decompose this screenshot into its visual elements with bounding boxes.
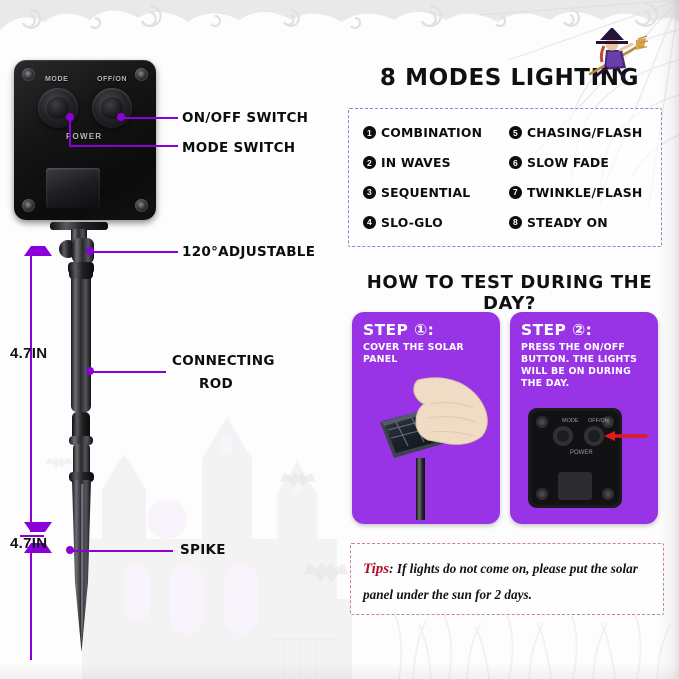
screw-icon [135,199,148,212]
leader-line-mode [69,145,178,147]
onoff-button[interactable] [92,88,132,128]
solar-control-box: MODE OFF/ON POWER [14,60,156,220]
tips-separator: : [389,561,397,576]
tips-body: If lights do not come on, please put the… [363,561,638,602]
infographic-page: MODE OFF/ON POWER [0,0,679,679]
callout-connecting-rod-line2: ROD [199,376,233,392]
mode-button-label: MODE [45,76,68,83]
step-2-card: STEP ②: PRESS THE ON/OFF BUTTON. THE LIG… [510,312,658,524]
leader-line-spike [70,550,173,552]
modes-list-box: 1 COMBINATION 5 CHASING/FLASH 2 IN WAVES… [348,108,662,247]
mode-item: 6 SLOW FADE [509,148,655,178]
leader-line-mode-vertical [69,117,71,146]
mode-label: TWINKLE/FLASH [527,185,642,200]
step-2-body: PRESS THE ON/OFF BUTTON. THE LIGHTS WILL… [521,342,649,390]
mode-item: 1 COMBINATION [363,118,509,148]
mode-number: 5 [509,126,522,139]
leader-line-onoff [121,117,178,119]
mode-item: 4 SLO-GLO [363,207,509,237]
mode-label: SLO-GLO [381,215,443,230]
mode-number: 2 [363,156,376,169]
mode-label: CHASING/FLASH [527,125,643,140]
mode-label: STEADY ON [527,215,608,230]
mode-item: 2 IN WAVES [363,148,509,178]
step-2-title: STEP ②: [521,321,592,339]
mode-number: 6 [509,156,522,169]
svg-text:POWER: POWER [570,450,593,456]
mode-number: 4 [363,216,376,229]
screw-icon [22,199,35,212]
onoff-button-label: OFF/ON [97,76,127,83]
mode-item: 7 TWINKLE/FLASH [509,178,655,208]
control-box-with-red-arrow-illustration: MODE OFF/ON POWER [520,404,648,516]
battery-compartment [46,168,100,208]
screw-icon [135,68,148,81]
mode-number: 7 [509,186,522,199]
step-1-body: COVER THE SOLAR PANEL [363,342,491,366]
callout-onoff-switch: ON/OFF SWITCH [182,110,308,126]
mode-number: 1 [363,126,376,139]
tips-text: Tips: If lights do not come on, please p… [363,556,653,607]
dimension-arrow-up [24,246,52,256]
mode-item: 5 CHASING/FLASH [509,118,655,148]
info-panels: 8 MODES LIGHTING 1 COMBINATION 5 [340,0,679,679]
dimension-arrow-down [24,522,52,532]
mode-number: 3 [363,186,376,199]
dimension-spike-length: 4.7IN [10,535,47,552]
svg-text:OFF/ON: OFF/ON [588,418,609,424]
mode-label: SLOW FADE [527,155,609,170]
hand-covering-solar-panel-illustration [358,374,494,520]
step-1-title: STEP ①: [363,321,434,339]
stake-and-rod-illustration [38,222,128,662]
leader-line-rod [90,371,166,373]
svg-text:MODE: MODE [562,418,579,424]
tips-keyword: Tips [363,561,389,577]
mode-label: SEQUENTIAL [381,185,470,200]
dimension-line-spike [30,545,32,660]
witch-on-broom-icon [586,28,648,84]
dimension-line-rod [30,248,32,532]
mode-item: 3 SEQUENTIAL [363,178,509,208]
test-section-title: HOW TO TEST DURING THE DAY? [340,272,679,314]
screw-icon [22,68,35,81]
mode-number: 8 [509,216,522,229]
callout-connecting-rod-line1: CONNECTING [172,353,275,369]
step-1-card: STEP ①: COVER THE SOLAR PANEL [352,312,500,524]
power-label: POWER [66,132,102,141]
callout-mode-switch: MODE SWITCH [182,140,295,156]
callout-adjustable: 120°ADJUSTABLE [182,244,315,260]
leader-line-adjustable [90,251,178,253]
product-diagram: MODE OFF/ON POWER [0,0,340,679]
mode-item: 8 STEADY ON [509,207,655,237]
tips-box: Tips: If lights do not come on, please p… [350,543,664,615]
dimension-rod-length: 4.7IN [10,345,47,362]
mode-label: IN WAVES [381,155,451,170]
callout-spike: SPIKE [180,542,226,558]
modes-grid: 1 COMBINATION 5 CHASING/FLASH 2 IN WAVES… [349,109,661,246]
mode-label: COMBINATION [381,125,482,140]
mode-button[interactable] [38,88,78,128]
